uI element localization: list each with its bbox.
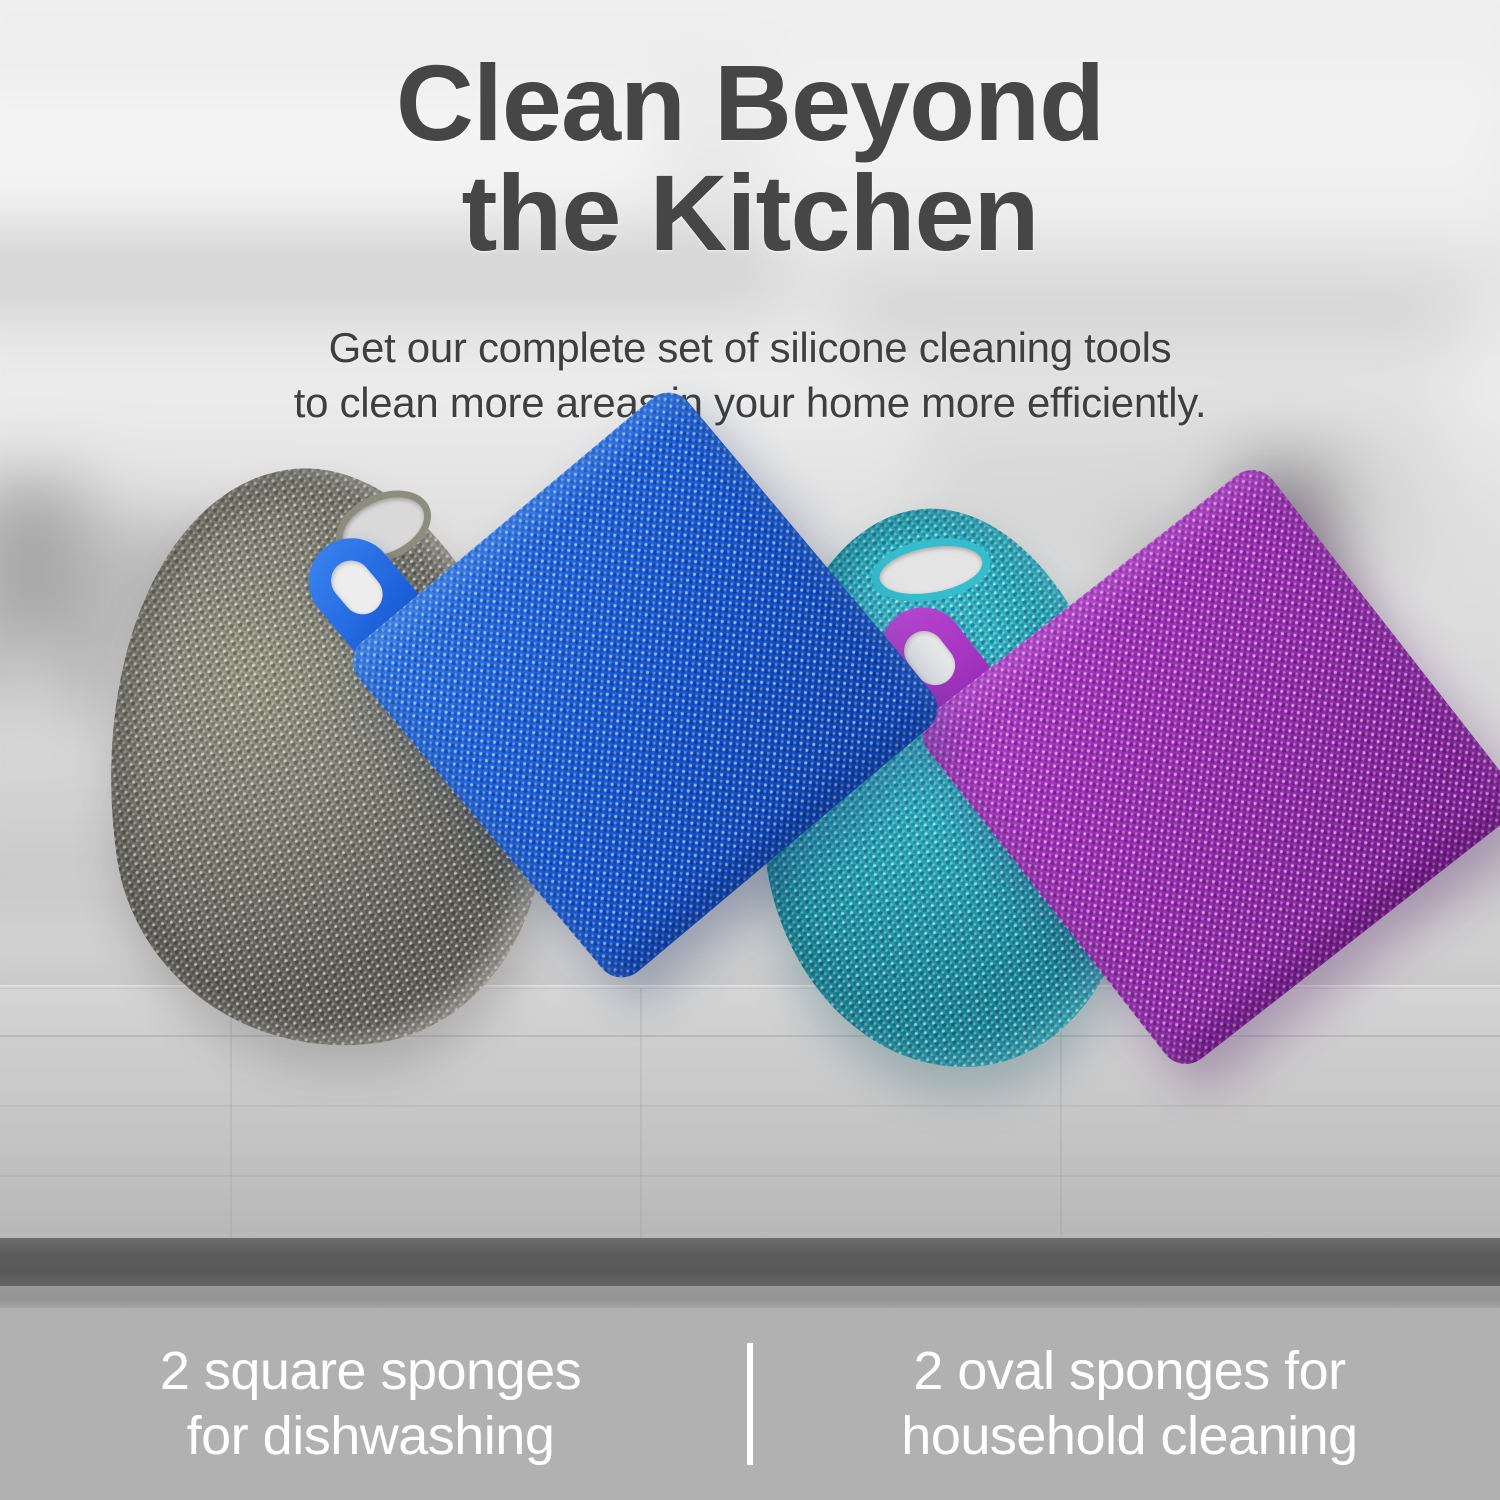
product-marketing-image: Clean Beyond the Kitchen Get our complet… [0, 0, 1500, 1500]
caption-oval-sponges: 2 oval sponges for household cleaning [759, 1339, 1500, 1469]
caption-square-sponges: 2 square sponges for dishwashing [0, 1339, 741, 1469]
page-title: Clean Beyond the Kitchen [0, 48, 1500, 268]
caption-divider [747, 1343, 753, 1465]
caption-right-line-1: 2 oval sponges for [913, 1341, 1345, 1401]
page-subtitle: Get our complete set of silicone cleanin… [0, 320, 1500, 431]
countertop-seam [640, 988, 642, 1238]
subheadline-line-1: Get our complete set of silicone cleanin… [329, 324, 1172, 371]
caption-left-line-1: 2 square sponges [160, 1341, 581, 1401]
caption-right-line-2: household cleaning [901, 1404, 1357, 1469]
countertop-edge-highlight [0, 1286, 1500, 1308]
headline-line-2: the Kitchen [0, 158, 1500, 268]
countertop-seam [0, 1175, 1500, 1177]
countertop-seam [0, 1105, 1500, 1107]
countertop-front-edge [0, 1238, 1500, 1286]
subheadline-line-2: to clean more areas in your home more ef… [0, 375, 1500, 430]
caption-left-line-2: for dishwashing [160, 1404, 581, 1469]
headline-line-1: Clean Beyond [396, 42, 1104, 163]
background-blurred-object [0, 630, 60, 740]
feature-caption-bar: 2 square sponges for dishwashing 2 oval … [0, 1308, 1500, 1500]
